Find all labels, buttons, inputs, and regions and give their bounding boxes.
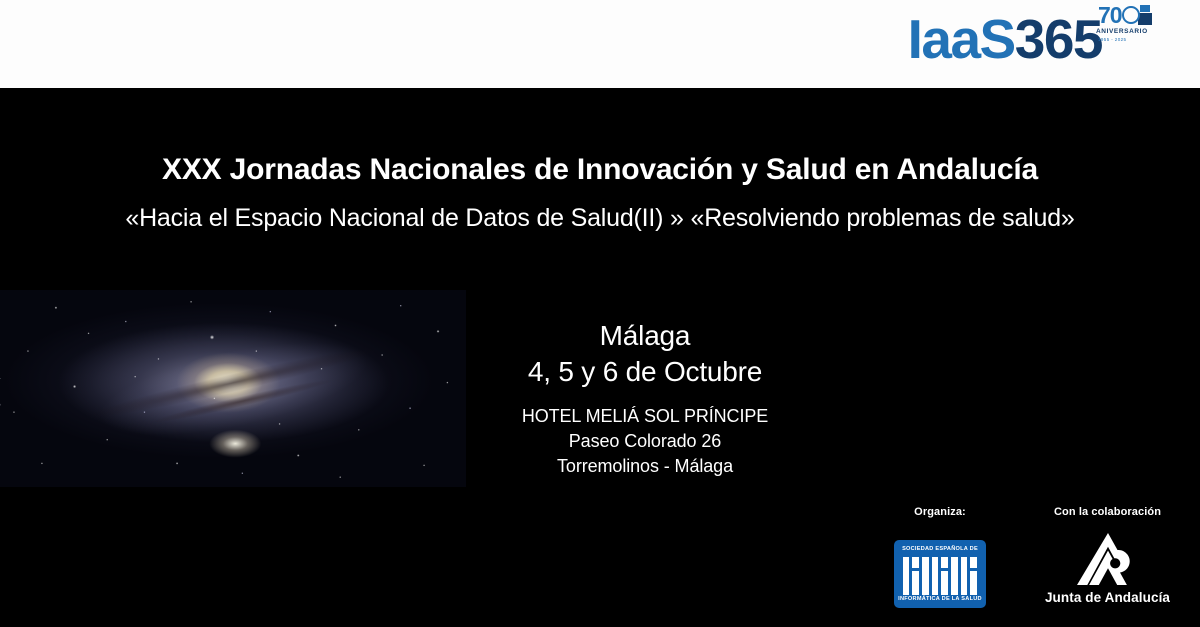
junta-andalucia-a-mark-icon bbox=[1077, 533, 1139, 585]
junta-andalucia-logo[interactable]: Junta de Andalucía bbox=[1025, 533, 1190, 606]
top-logo-bar: IaaS365 70 ANIVERSARIO 1955 - 2025 bbox=[0, 0, 1200, 88]
event-venue-name: HOTEL MELIÁ SOL PRÍNCIPE bbox=[500, 404, 790, 429]
sponsors-footer: Organiza: SOCIEDAD ESPAÑOLA DE INFORMÁTI… bbox=[860, 505, 1190, 627]
iaas365-logo-text: IaaS365 bbox=[908, 8, 1102, 70]
event-city: Málaga bbox=[500, 318, 790, 354]
anniversary-years: 1955 - 2025 bbox=[1098, 37, 1126, 42]
event-venue-street: Paseo Colorado 26 bbox=[500, 429, 790, 454]
anniversary-square-dark-icon bbox=[1138, 13, 1152, 25]
event-details: Málaga 4, 5 y 6 de Octubre HOTEL MELIÁ S… bbox=[500, 318, 790, 479]
page-title: XXX Jornadas Nacionales de Innovación y … bbox=[0, 150, 1200, 190]
anniversary-label: ANIVERSARIO bbox=[1096, 28, 1148, 35]
andromeda-galaxy-image: Galaxia de Andrómeda - M31. Imagen obten… bbox=[0, 290, 466, 487]
seis-logo-bottom-text: INFORMÁTICA DE LA SALUD bbox=[896, 596, 984, 602]
anniversary-number: 70 bbox=[1098, 4, 1122, 27]
seis-logo-top-text: SOCIEDAD ESPAÑOLA DE bbox=[896, 546, 984, 552]
colaboracion-label: Con la colaboración bbox=[1025, 505, 1190, 519]
starfield bbox=[0, 290, 466, 487]
image-credit: Galaxia de Andrómeda - M31. Imagen obten… bbox=[0, 323, 1, 473]
junta-andalucia-name: Junta de Andalucía bbox=[1025, 589, 1190, 606]
event-venue-town: Torremolinos - Málaga bbox=[500, 454, 790, 479]
sponsor-colaboracion: Con la colaboración Junta de Andalucía bbox=[1025, 505, 1190, 606]
event-dates: 4, 5 y 6 de Octubre bbox=[500, 354, 790, 390]
organiza-label: Organiza: bbox=[860, 505, 1020, 519]
seis-logo-mark-icon bbox=[903, 557, 981, 595]
anniversary-ring-icon bbox=[1122, 6, 1140, 24]
headline-block: XXX Jornadas Nacionales de Innovación y … bbox=[0, 150, 1200, 238]
sponsor-organiza: Organiza: SOCIEDAD ESPAÑOLA DE INFORMÁTI… bbox=[860, 505, 1020, 608]
logo-word-iaas: IaaS bbox=[908, 8, 1015, 70]
seis-logo[interactable]: SOCIEDAD ESPAÑOLA DE INFORMÁTICA DE LA S… bbox=[894, 540, 986, 608]
anniversary-square-light-icon bbox=[1140, 5, 1150, 12]
logo-word-365: 365 bbox=[1015, 8, 1102, 70]
anniversary-badge: 70 ANIVERSARIO 1955 - 2025 bbox=[1096, 4, 1158, 48]
page-subtitle: «Hacia el Espacio Nacional de Datos de S… bbox=[0, 198, 1200, 238]
iaas365-logo[interactable]: IaaS365 70 ANIVERSARIO 1955 - 2025 bbox=[908, 8, 1158, 70]
